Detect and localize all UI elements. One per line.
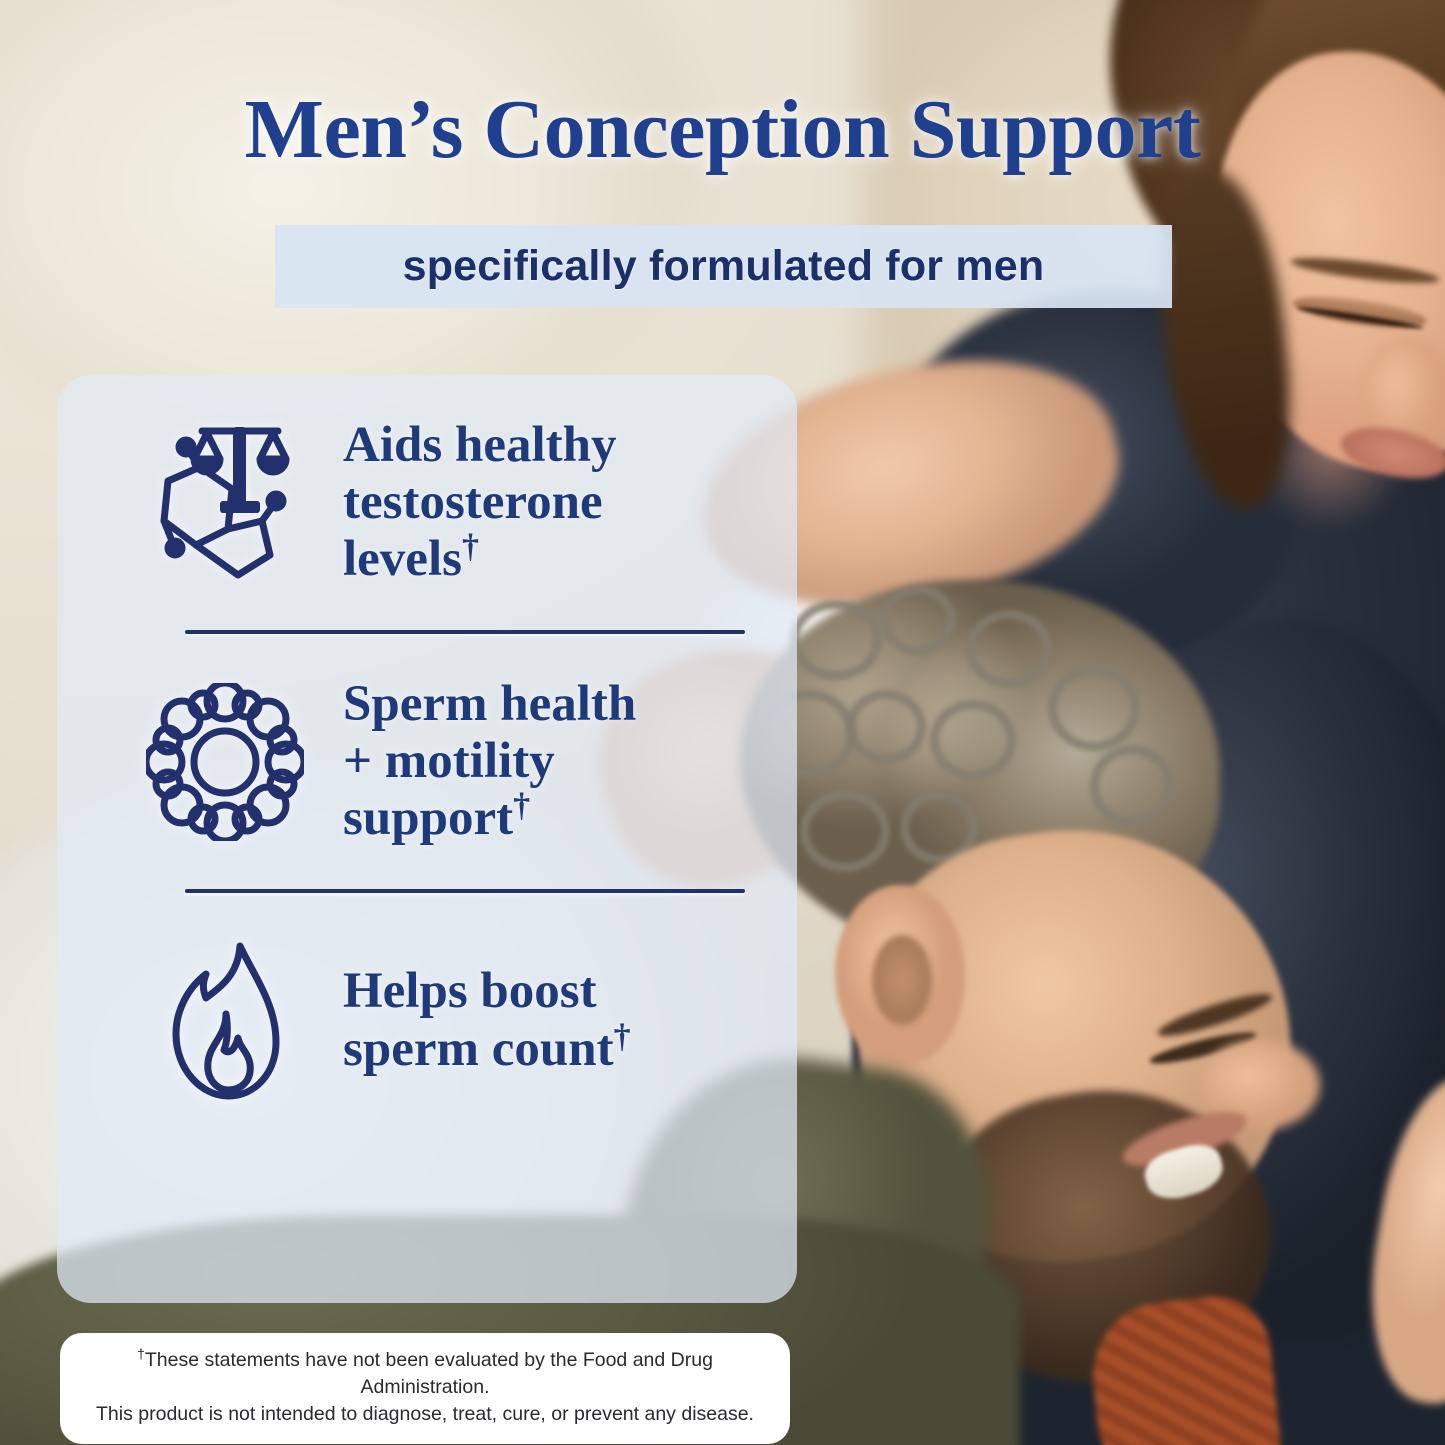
feature-line-2: + motility xyxy=(343,733,555,789)
dagger-symbol: † xyxy=(614,1018,631,1055)
subtitle-band: specifically formulated for men xyxy=(275,225,1172,308)
photo-pillow-top xyxy=(0,0,700,440)
feature-line-2: testosterone xyxy=(343,474,603,530)
feature-item-sperm-health: Sperm health + motility support† xyxy=(97,634,757,889)
dagger-symbol: † xyxy=(462,528,479,565)
flame-icon xyxy=(145,931,305,1111)
fda-disclaimer: †These statements have not been evaluate… xyxy=(60,1333,790,1444)
scale-molecule-icon xyxy=(145,413,305,593)
feature-line-1: Sperm health xyxy=(343,676,636,732)
feature-item-testosterone: Aids healthy testosterone levels† xyxy=(97,375,757,630)
feature-label-sperm-health: Sperm health + motility support† xyxy=(343,676,636,847)
photo-man-curl xyxy=(966,610,1052,688)
photo-man-curl xyxy=(800,790,890,872)
photo-man-curl xyxy=(930,700,1016,780)
ovum-cell-icon xyxy=(145,672,305,852)
photo-man-curl xyxy=(1090,745,1174,827)
photo-man-curl xyxy=(790,600,882,680)
disclaimer-line-1: These statements have not been evaluated… xyxy=(145,1349,713,1398)
page-title: Men’s Conception Support xyxy=(0,88,1445,172)
feature-line-2: sperm count xyxy=(343,1021,614,1077)
photo-man-ear-inner xyxy=(872,935,932,1025)
feature-line-1: Aids healthy xyxy=(343,417,616,473)
dagger-symbol: † xyxy=(137,1346,145,1362)
feature-card: Aids healthy testosterone levels† xyxy=(57,375,797,1303)
feature-label-sperm-count: Helps boost sperm count† xyxy=(343,963,631,1077)
feature-line-1: Helps boost xyxy=(343,963,597,1019)
feature-line-3: support xyxy=(343,790,513,846)
feature-line-3: levels xyxy=(343,531,462,587)
disclaimer-line-2: This product is not intended to diagnose… xyxy=(96,1403,754,1425)
feature-item-sperm-count: Helps boost sperm count† xyxy=(97,893,757,1148)
photo-man-curl xyxy=(846,690,926,764)
photo-man-curl xyxy=(880,585,956,655)
photo-man-curl xyxy=(1048,665,1140,751)
subtitle-text: specifically formulated for men xyxy=(403,242,1045,291)
feature-label-testosterone: Aids healthy testosterone levels† xyxy=(343,417,616,588)
dagger-symbol: † xyxy=(513,787,530,824)
